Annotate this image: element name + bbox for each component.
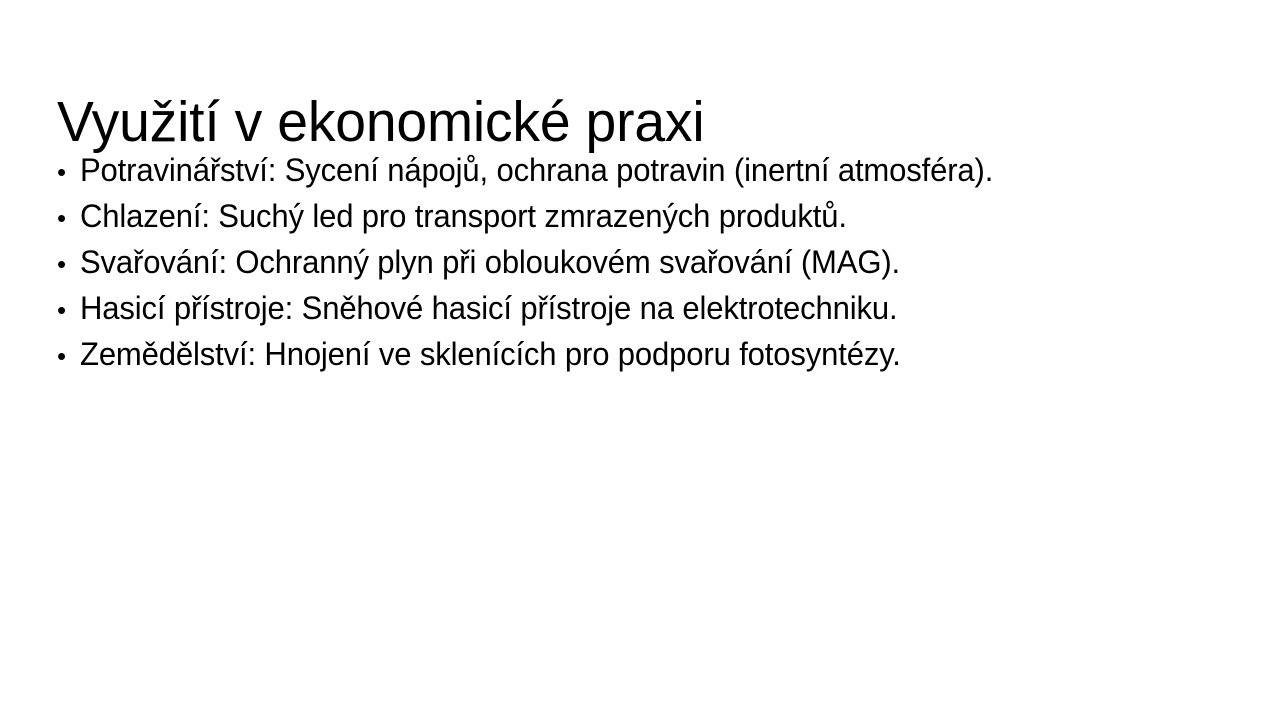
- list-item-label: Potravinářství: Sycení nápojů, ochrana p…: [80, 147, 993, 193]
- list-item: • Chlazení: Suchý led pro transport zmra…: [57, 193, 1237, 239]
- bullet-point-icon: •: [57, 241, 80, 287]
- list-item-label: Zemědělství: Hnojení ve sklenících pro p…: [80, 331, 901, 377]
- list-item-label: Hasicí přístroje: Sněhové hasicí přístro…: [80, 285, 897, 331]
- list-item: • Zemědělství: Hnojení ve sklenících pro…: [57, 331, 1237, 377]
- list-item: • Hasicí přístroje: Sněhové hasicí příst…: [57, 285, 1237, 331]
- bullet-point-icon: •: [57, 287, 80, 333]
- bullet-point-icon: •: [57, 333, 80, 379]
- list-item: • Potravinářství: Sycení nápojů, ochrana…: [57, 147, 1237, 193]
- page-title: Využití v ekonomické praxi: [57, 94, 1182, 151]
- bullet-point-icon: •: [57, 195, 80, 241]
- presentation-slide: Využití v ekonomické praxi • Potravinářs…: [0, 0, 1280, 720]
- list-item-label: Svařování: Ochranný plyn při obloukovém …: [80, 239, 900, 285]
- list-item: • Svařování: Ochranný plyn při obloukové…: [57, 239, 1237, 285]
- bullet-point-icon: •: [57, 149, 80, 195]
- empty-slide-area: [0, 380, 1280, 720]
- bullet-list: • Potravinářství: Sycení nápojů, ochrana…: [57, 147, 1237, 377]
- list-item-label: Chlazení: Suchý led pro transport zmraze…: [80, 193, 847, 239]
